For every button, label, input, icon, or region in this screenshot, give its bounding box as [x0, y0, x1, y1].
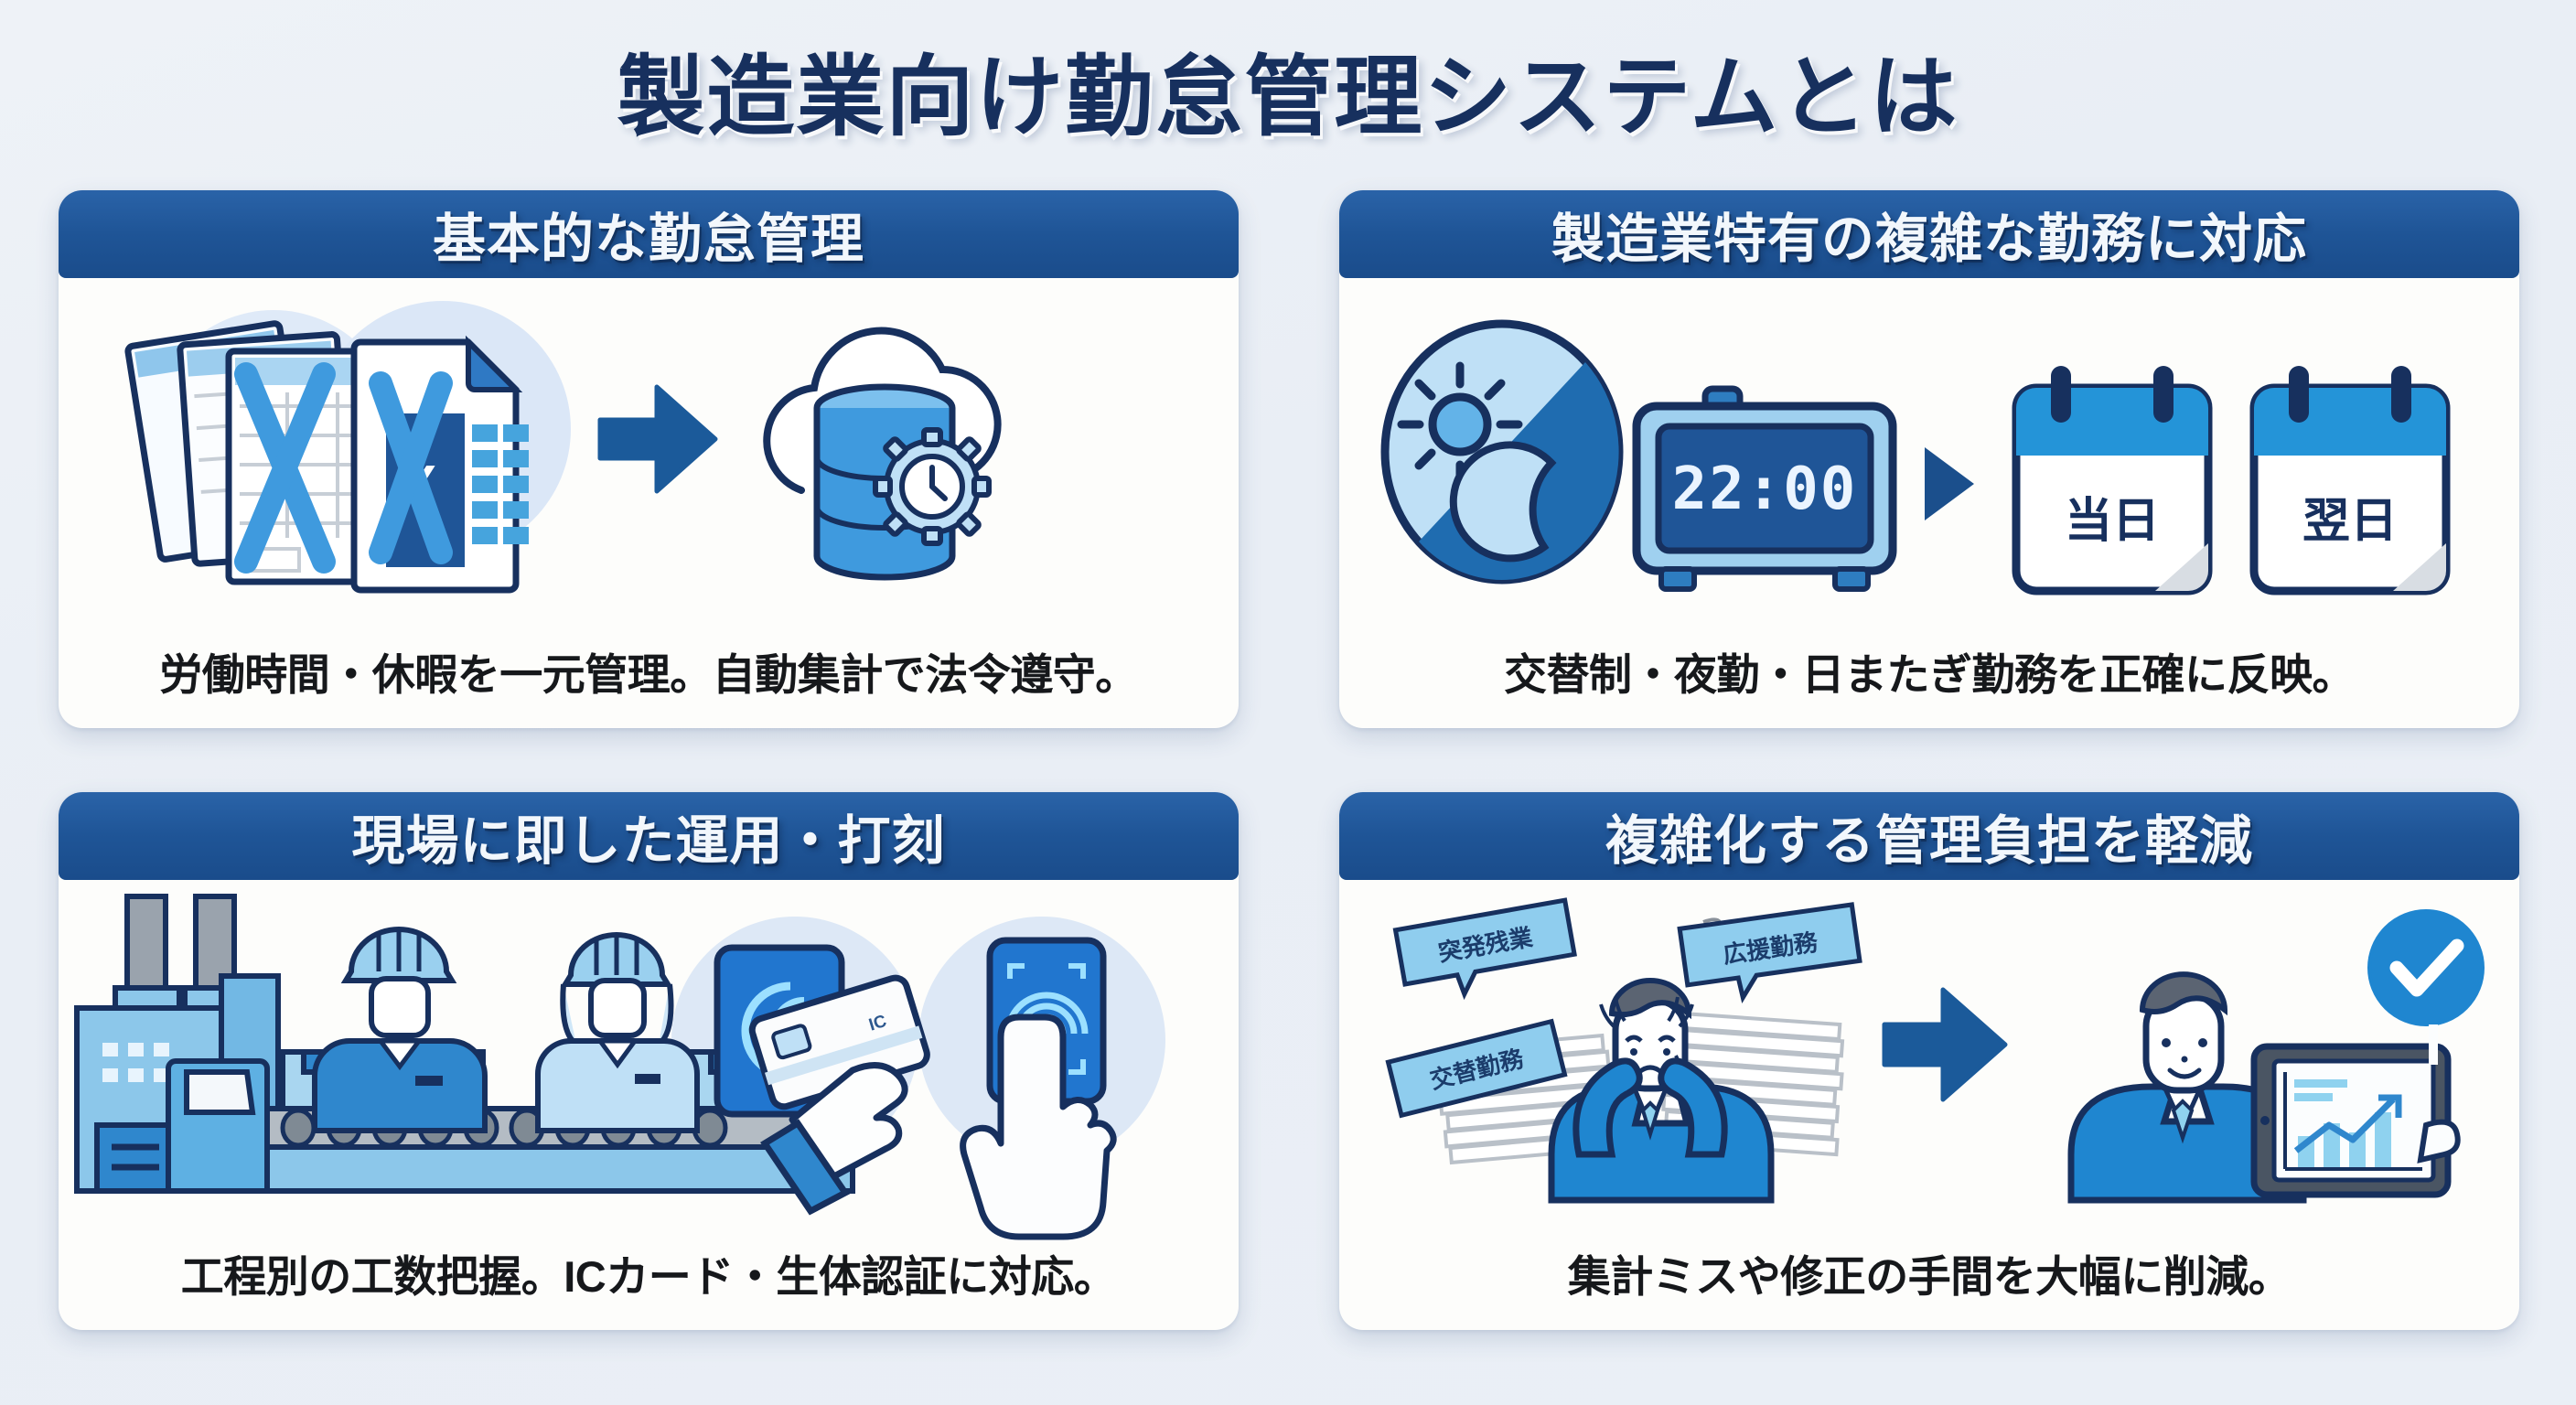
gear-clock-icon	[875, 427, 989, 543]
card-caption-basic-attendance: 労働時間・休暇を一元管理。自動集計で法令遵守。	[59, 627, 1239, 728]
right-arrow-icon	[1884, 990, 2005, 1099]
card-header-basic-attendance: 基本的な勤怠管理	[59, 190, 1239, 278]
moon-icon	[1454, 445, 1551, 558]
illustration-factory-ic-fingerprint: IC	[59, 880, 1239, 1229]
worker-male	[315, 928, 485, 1131]
digital-clock: 22:00	[1637, 389, 1893, 589]
clock-time: 22:00	[1672, 456, 1858, 523]
speech-bubble-1: 突発残業	[1396, 900, 1578, 1003]
cloud-database-gear-clock	[767, 331, 997, 577]
caption-text: 集計ミスや修正の手間を大幅に削減。	[1568, 1241, 2292, 1304]
illustration-day-night-clock-calendars: 22:00 当日	[1339, 278, 2519, 627]
card-grid: 基本的な勤怠管理	[59, 190, 2519, 1370]
calendar-next-day-label: 翌日	[2302, 495, 2398, 548]
illustration-stressed-to-confident: 突発残業 広援勤務 交替勤務	[1339, 880, 2519, 1229]
card-caption-onsite-timestamping: 工程別の工数把握。ICカード・生体認証に対応。	[59, 1229, 1239, 1330]
factory-building	[77, 896, 278, 1191]
card-header-reduce-admin-burden: 複雑化する管理負担を軽減	[1339, 792, 2519, 880]
caption-text: 交替制・夜勤・日またぎ勤務を正確に反映。	[1504, 639, 2355, 702]
card-basic-attendance[interactable]: 基本的な勤怠管理	[59, 190, 1239, 728]
caption-text: 労働時間・休暇を一元管理。自動集計で法令遵守。	[159, 639, 1138, 702]
card-reduce-admin-burden[interactable]: 複雑化する管理負担を軽減	[1339, 792, 2519, 1330]
infographic-page: 製造業向け勤怠管理システムとは 基本的な勤怠管理	[0, 0, 2576, 1405]
sun-moon-circle-icon	[1385, 324, 1619, 580]
card-title: 現場に即した運用・打刻	[351, 798, 945, 874]
card-caption-reduce-admin-burden: 集計ミスや修正の手間を大幅に削減。	[1339, 1229, 2519, 1330]
card-title: 基本的な勤怠管理	[433, 196, 864, 273]
triangle-arrow-icon	[1925, 447, 1974, 520]
illustration-paper-and-excel-to-cloud: X	[59, 278, 1239, 627]
right-arrow-icon	[600, 387, 715, 491]
caption-text: 工程別の工数把握。ICカード・生体認証に対応。	[181, 1241, 1117, 1304]
page-title: 製造業向け勤怠管理システムとは	[0, 26, 2576, 153]
card-header-onsite-timestamping: 現場に即した運用・打刻	[59, 792, 1239, 880]
card-title: 複雑化する管理負担を軽減	[1605, 798, 2253, 874]
card-caption-complex-shift-support: 交替制・夜勤・日またぎ勤務を正確に反映。	[1339, 627, 2519, 728]
check-badge-icon	[2369, 911, 2483, 1065]
card-title: 製造業特有の複雑な勤務に対応	[1551, 196, 2307, 273]
calendar-today-label: 当日	[2065, 495, 2160, 548]
card-onsite-timestamping[interactable]: 現場に即した運用・打刻	[59, 792, 1239, 1330]
calendar-next-day-icon: 翌日	[2254, 366, 2446, 591]
card-complex-shift-support[interactable]: 製造業特有の複雑な勤務に対応	[1339, 190, 2519, 728]
tablet-chart	[2254, 1046, 2448, 1195]
card-header-complex-shift-support: 製造業特有の複雑な勤務に対応	[1339, 190, 2519, 278]
calendar-today-icon: 当日	[2016, 366, 2208, 591]
